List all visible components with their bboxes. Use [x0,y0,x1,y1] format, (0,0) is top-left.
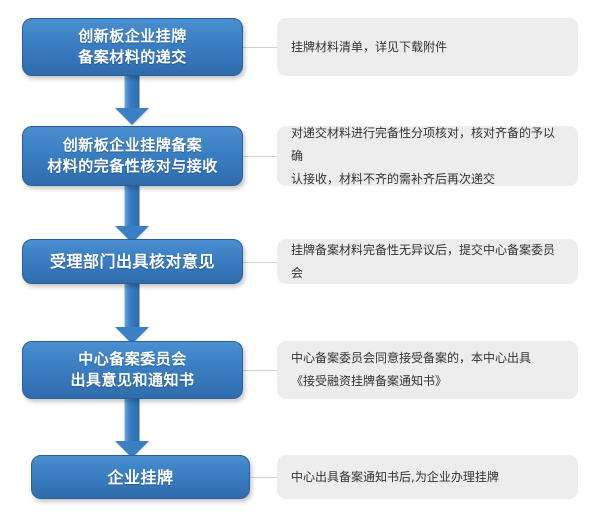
process-node-label-step-1: 创新板企业挂牌 备案材料的递交 [78,26,187,68]
process-node-step-2[interactable]: 创新板企业挂牌备案 材料的完备性核对与接收 [22,126,243,186]
annotation-box-step-2: 对递交材料进行完备性分项核对，核对齐备的予以确 认接收，材料不齐的需补齐后再次递… [277,126,578,186]
process-node-label-step-3: 受理部门出具核对意见 [50,251,215,272]
annotation-box-step-4: 中心备案委员会同意接受备案的，本中心出具 《接受融资挂牌备案通知书》 [277,341,578,399]
arrow-step-3-to-step-4 [110,282,154,344]
annotation-label-step-5: 中心出具备案通知书后,为企业办理挂牌 [277,466,511,489]
annotation-label-step-3: 挂牌备案材料完备性无异议后，提交中心备案委员会 [277,239,578,285]
arrow-step-1-to-step-2 [110,73,154,125]
annotation-box-step-3: 挂牌备案材料完备性无异议后，提交中心备案委员会 [277,239,578,284]
process-node-step-5[interactable]: 企业挂牌 [31,455,250,499]
process-node-step-4[interactable]: 中心备案委员会 出具意见和通知书 [22,341,243,399]
process-node-step-1[interactable]: 创新板企业挂牌 备案材料的递交 [22,18,243,76]
annotation-box-step-1: 挂牌材料清单，详见下载附件 [277,18,578,76]
annotation-box-step-5: 中心出具备案通知书后,为企业办理挂牌 [277,455,578,499]
process-node-step-3[interactable]: 受理部门出具核对意见 [22,239,243,284]
arrow-step-4-to-step-5 [110,397,154,458]
annotation-label-step-4: 中心备案委员会同意接受备案的，本中心出具 《接受融资挂牌备案通知书》 [277,347,543,393]
annotation-label-step-1: 挂牌材料清单，详见下载附件 [277,36,459,59]
flowchart-canvas: 创新板企业挂牌 备案材料的递交 挂牌材料清单，详见下载附件 创新板企业挂牌备案 … [0,0,600,523]
arrow-step-2-to-step-3 [110,185,154,243]
process-node-label-step-4: 中心备案委员会 出具意见和通知书 [70,349,194,391]
process-node-label-step-2: 创新板企业挂牌备案 材料的完备性核对与接收 [47,135,218,177]
annotation-label-step-2: 对递交材料进行完备性分项核对，核对齐备的予以确 认接收，材料不齐的需补齐后再次递… [277,122,578,191]
process-node-label-step-5: 企业挂牌 [107,467,173,488]
